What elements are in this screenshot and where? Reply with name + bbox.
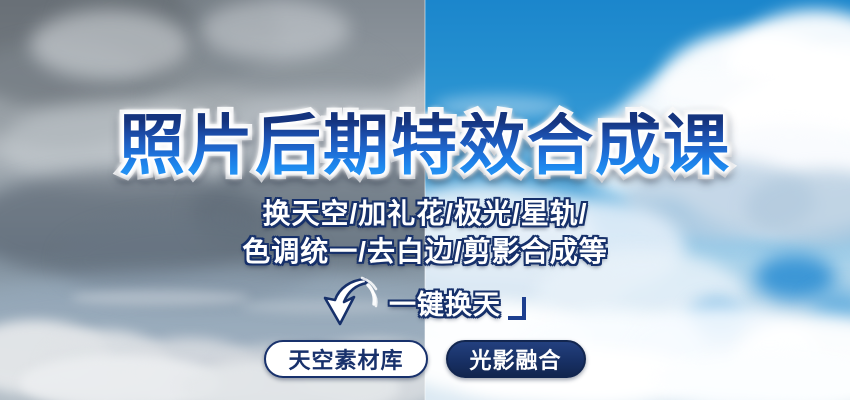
- feature-badge-group: 天空素材库 光影融合: [0, 340, 850, 378]
- badge-sky-asset-library[interactable]: 天空素材库: [264, 340, 427, 378]
- subtitle-line-2: 色调统一/去白边/剪影合成等: [0, 238, 850, 266]
- badge-light-shadow-blend[interactable]: 光影融合: [446, 340, 586, 378]
- corner-bracket-icon: [507, 281, 529, 323]
- subtitle-line-1: 换天空/加礼花/极光/星轨/: [0, 200, 850, 228]
- one-key-sky-swap-row: 一键换天: [0, 277, 850, 327]
- sky-replacement-course-banner: 照片后期特效合成课 照片后期特效合成课 换天空/加礼花/极光/星轨/ 色调统一/…: [0, 0, 850, 400]
- banner-content: 照片后期特效合成课 照片后期特效合成课 换天空/加礼花/极光/星轨/ 色调统一/…: [0, 0, 850, 400]
- curved-down-arrow-icon: [321, 276, 383, 328]
- page-title: 照片后期特效合成课: [0, 112, 850, 178]
- one-key-sky-swap-label: 一键换天: [389, 283, 501, 322]
